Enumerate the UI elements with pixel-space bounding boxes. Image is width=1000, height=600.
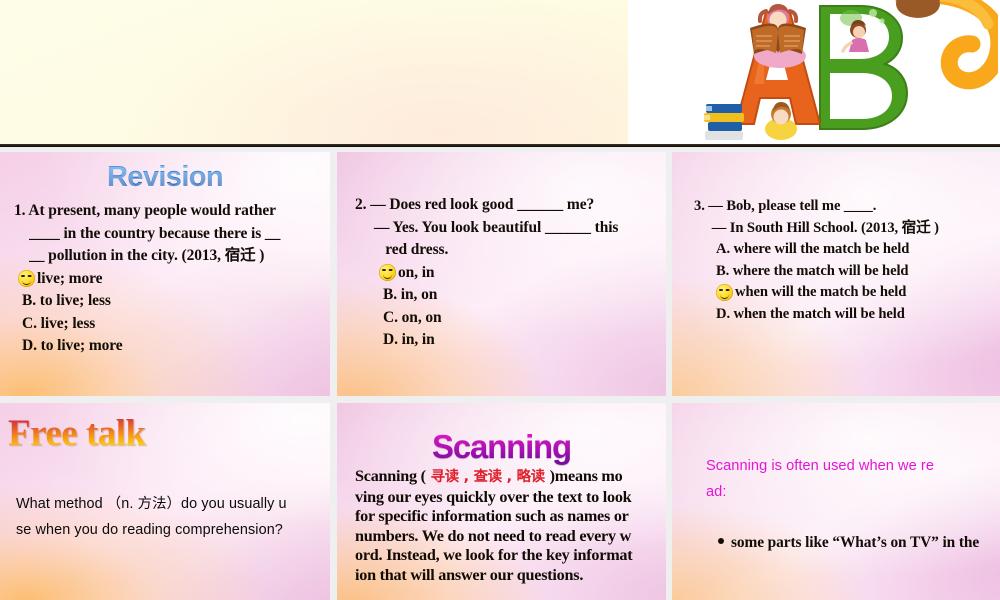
slide-root: Revision 1. At present, many people woul… bbox=[0, 0, 1000, 600]
definition-line: ion that will answer our questions. bbox=[355, 566, 654, 586]
scanning-usage-heading: Scanning is often used when we re ad: bbox=[706, 453, 986, 505]
option-b[interactable]: B. in, on bbox=[355, 284, 658, 307]
option-text: on, in bbox=[398, 262, 434, 285]
option-text: where the match will be held bbox=[733, 263, 909, 279]
smiley-face-icon bbox=[716, 284, 733, 301]
revision-question-1: 1. At present, many people would rather … bbox=[14, 200, 322, 358]
list-item: some parts like “What’s on TV” in the bbox=[688, 505, 990, 580]
panel-scanning: Scanning Scanning ( 寻读 , 查读 , 略读 )means … bbox=[337, 403, 666, 600]
heading-line: ad: bbox=[706, 479, 986, 505]
definition-prefix: Scanning ( bbox=[355, 467, 426, 485]
option-text: when will the match be held bbox=[735, 282, 906, 304]
smiley-face-icon bbox=[18, 270, 35, 287]
free-talk-line: se when you do reading comprehension? bbox=[16, 517, 316, 543]
question-line: — In South Hill School. (2013, 宿迁 ) bbox=[694, 218, 994, 240]
option-c[interactable]: C. on, on bbox=[355, 307, 658, 330]
free-talk-title: Free talk bbox=[8, 412, 146, 455]
free-talk-line: What method （n. 方法）do you usually u bbox=[16, 491, 316, 517]
question-line: — Yes. You look beautiful ______ this bbox=[355, 217, 658, 240]
scanning-title: Scanning bbox=[337, 428, 666, 466]
option-text: when the match will be held bbox=[734, 306, 905, 322]
option-text: in, in bbox=[402, 331, 435, 348]
option-a[interactable]: on, in bbox=[355, 262, 658, 285]
smiley-face-icon bbox=[379, 264, 396, 281]
option-d[interactable]: D. to live; more bbox=[14, 335, 322, 358]
option-c[interactable]: C. live; less bbox=[14, 313, 322, 336]
question-line: __ pollution in the city. (2013, 宿迁 ) bbox=[14, 245, 322, 268]
heading-line: Scanning is often used when we re bbox=[706, 453, 986, 479]
definition-line: ving our eyes quickly over the text to l… bbox=[355, 488, 654, 508]
panel-question-2: 2. — Does red look good ______ me? — Yes… bbox=[337, 152, 666, 396]
option-text: to live; more bbox=[41, 337, 123, 354]
revision-title: Revision bbox=[0, 161, 330, 194]
question-3-block: 3. — Bob, please tell me ____. — In Sout… bbox=[694, 196, 994, 325]
panel-question-3: 3. — Bob, please tell me ____. — In Sout… bbox=[672, 152, 1000, 396]
question-line: ____ in the country because there is __ bbox=[14, 223, 322, 246]
option-text: in, on bbox=[401, 286, 437, 303]
panel-revision: Revision 1. At present, many people woul… bbox=[0, 152, 330, 396]
question-2-block: 2. — Does red look good ______ me? — Yes… bbox=[355, 194, 658, 352]
option-d[interactable]: D. in, in bbox=[355, 329, 658, 352]
panel-free-talk: Free talk What method （n. 方法）do you usua… bbox=[0, 403, 330, 600]
option-a[interactable]: A. where will the match be held bbox=[694, 239, 994, 261]
question-line: 3. — Bob, please tell me ____. bbox=[694, 196, 994, 218]
definition-line: for specific information such as names o… bbox=[355, 507, 654, 527]
option-a[interactable]: live; more bbox=[14, 268, 322, 291]
definition-first-line: Scanning ( 寻读 , 查读 , 略读 )means mo bbox=[355, 467, 654, 488]
list-item-text: some parts like “What’s on TV” in the bbox=[731, 534, 979, 551]
option-b[interactable]: B. to live; less bbox=[14, 290, 322, 313]
scanning-definition: Scanning ( 寻读 , 查读 , 略读 )means mo ving o… bbox=[355, 467, 654, 586]
definition-chinese-gloss: 寻读 , 查读 , 略读 bbox=[426, 469, 550, 485]
definition-line: )means mo bbox=[550, 467, 623, 485]
definition-line: ord. Instead, we look for the key inform… bbox=[355, 546, 654, 566]
option-b[interactable]: B. where the match will be held bbox=[694, 261, 994, 283]
option-text: live; more bbox=[37, 268, 102, 291]
question-line: 2. — Does red look good ______ me? bbox=[355, 194, 658, 217]
option-text: to live; less bbox=[40, 292, 111, 309]
definition-line: numbers. We do not need to read every w bbox=[355, 527, 654, 547]
abc-kids-reading-illustration-icon bbox=[668, 0, 998, 147]
panel-scanning-usage: Scanning is often used when we re ad: so… bbox=[672, 403, 1000, 600]
top-banner bbox=[0, 0, 1000, 147]
free-talk-question: What method （n. 方法）do you usually u se w… bbox=[16, 491, 316, 543]
question-line: 1. At present, many people would rather bbox=[14, 200, 322, 223]
option-text: live; less bbox=[41, 315, 96, 332]
option-text: on, on bbox=[402, 309, 442, 326]
banner-divider bbox=[0, 144, 1000, 147]
option-c[interactable]: when will the match be held bbox=[694, 282, 994, 304]
option-text: where will the match be held bbox=[734, 241, 910, 257]
question-line: red dress. bbox=[355, 239, 658, 262]
bullet-icon bbox=[718, 538, 724, 544]
option-d[interactable]: D. when the match will be held bbox=[694, 304, 994, 326]
scanning-usage-list: some parts like “What’s on TV” in the ne… bbox=[688, 505, 990, 600]
